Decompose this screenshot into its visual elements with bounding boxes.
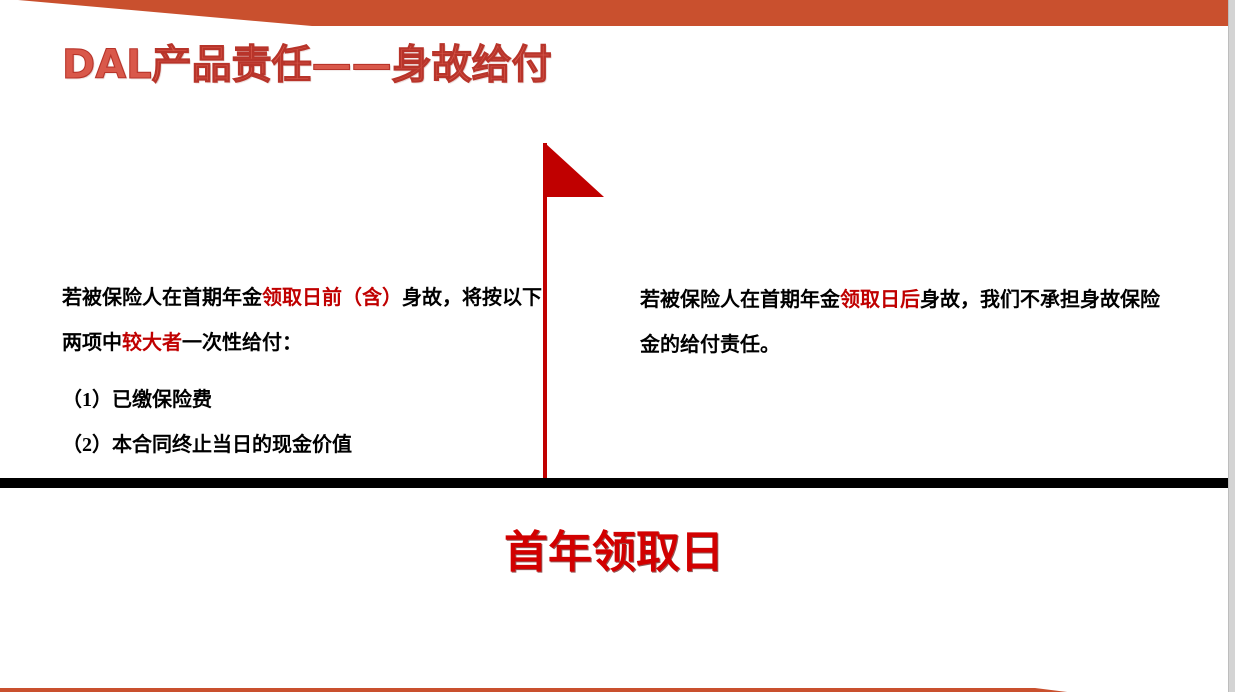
right-text-column: 若被保险人在首期年金领取日后身故，我们不承担身故保险金的给付责任。 bbox=[640, 278, 1160, 368]
left-paragraph-part1: 若被保险人在首期年金 bbox=[62, 287, 262, 309]
timeline-divider bbox=[0, 478, 1228, 488]
left-paragraph-highlight1: 领取日前（含） bbox=[262, 287, 402, 309]
bottom-orange-band bbox=[0, 662, 1228, 692]
list-item: （2）本合同终止当日的现金价值 bbox=[62, 423, 542, 468]
right-paragraph-highlight1: 领取日后 bbox=[840, 289, 920, 311]
page-title: DAL产品责任——身故给付 bbox=[62, 41, 552, 89]
left-paragraph-highlight2: 较大者 bbox=[122, 332, 182, 354]
right-paragraph: 若被保险人在首期年金领取日后身故，我们不承担身故保险金的给付责任。 bbox=[640, 278, 1160, 368]
left-text-column: 若被保险人在首期年金领取日前（含）身故，将按以下两项中较大者一次性给付： （1）… bbox=[62, 276, 542, 468]
list-item: （1）已缴保险费 bbox=[62, 378, 542, 423]
left-paragraph-part3: 一次性给付： bbox=[182, 332, 302, 354]
red-flag-icon bbox=[542, 140, 606, 488]
left-paragraph: 若被保险人在首期年金领取日前（含）身故，将按以下两项中较大者一次性给付： bbox=[62, 276, 542, 366]
right-paragraph-part1: 若被保险人在首期年金 bbox=[640, 289, 840, 311]
right-edge-gutter bbox=[1228, 0, 1235, 692]
top-orange-band bbox=[0, 0, 1228, 30]
spacer bbox=[62, 366, 542, 378]
slide-canvas: DAL产品责任——身故给付 若被保险人在首期年金领取日前（含）身故，将按以下两项… bbox=[0, 0, 1235, 692]
timeline-caption: 首年领取日 bbox=[0, 522, 1228, 584]
